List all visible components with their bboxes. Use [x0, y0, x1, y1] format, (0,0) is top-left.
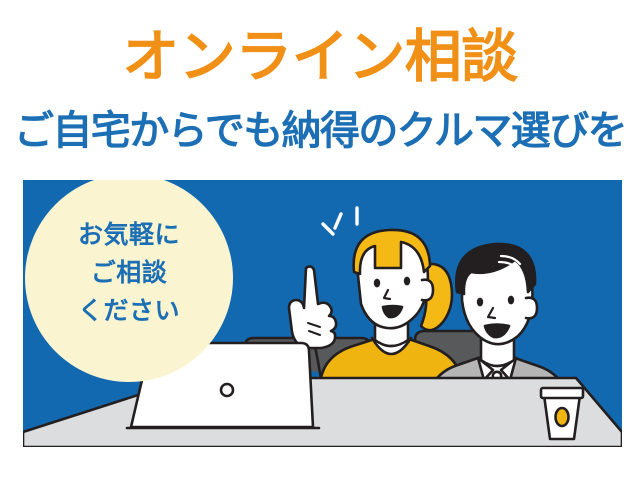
desk-surface	[23, 378, 622, 447]
page-subtitle: ご自宅からでも納得のクルマ選びを	[0, 108, 640, 154]
illustration-panel: お気軽に ご相談 ください	[23, 180, 622, 447]
page-title: オンライン相談	[0, 26, 640, 88]
callout-badge-label: お気軽に ご相談 ください	[25, 216, 233, 330]
sparkle-lines	[323, 208, 357, 234]
callout-badge: お気軽に ご相談 ください	[25, 180, 233, 382]
online-consultation-banner: オンライン相談 ご自宅からでも納得のクルマ選びを	[0, 0, 640, 480]
